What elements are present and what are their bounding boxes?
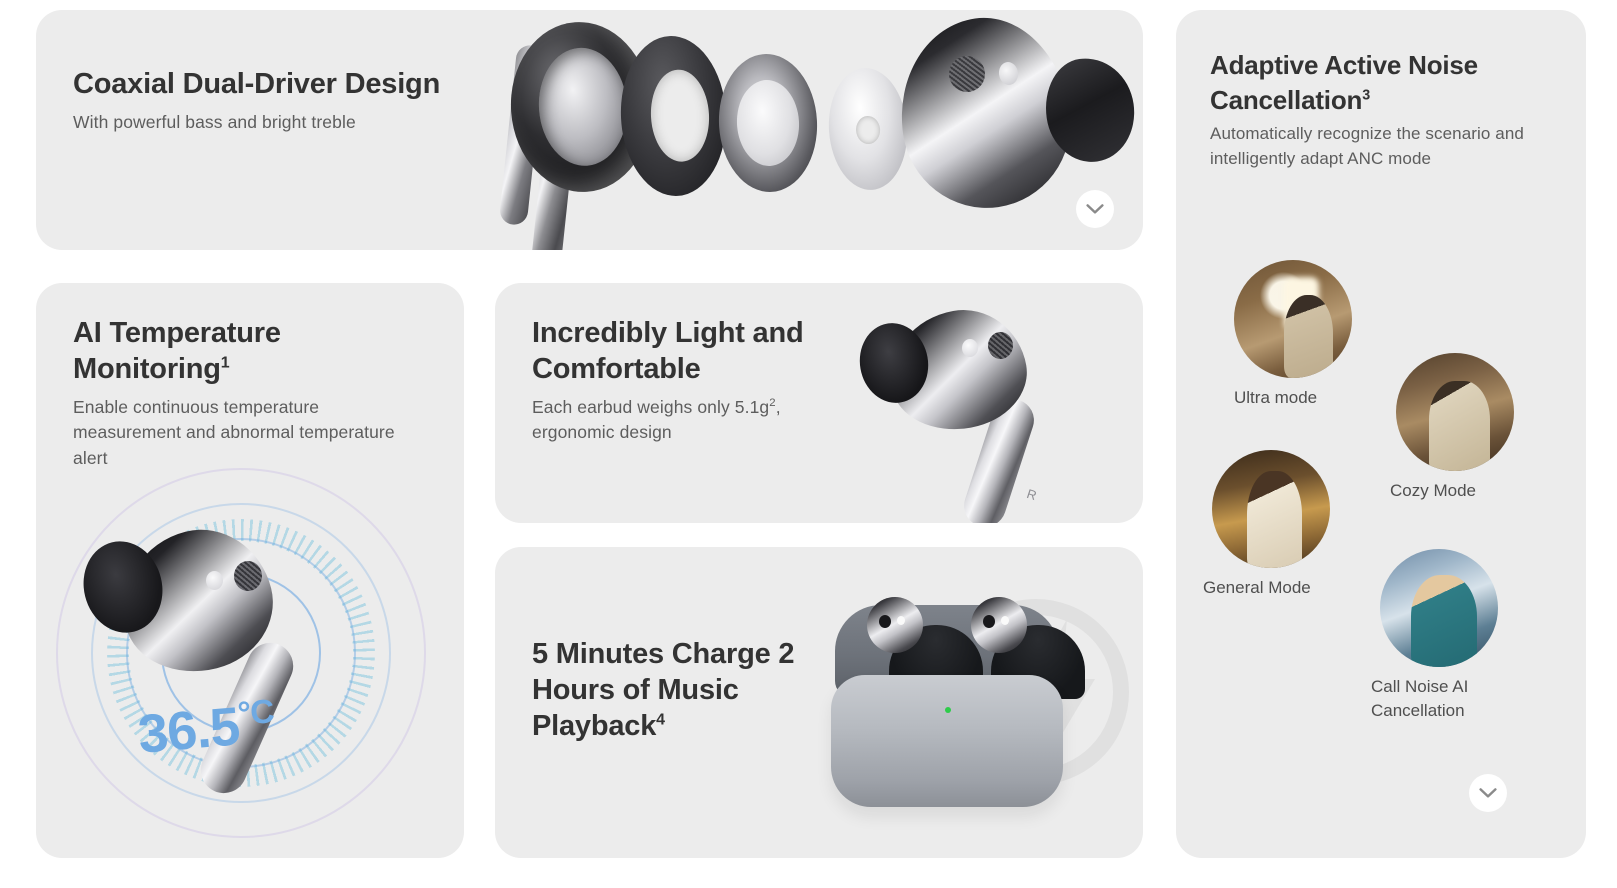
feature-card-adaptive-anc[interactable]: Adaptive Active Noise Cancellation3 Auto… [1176, 10, 1586, 858]
coaxial-card-title: Coaxial Dual-Driver Design [73, 67, 440, 103]
anc-card-subtitle: Automatically recognize the scenario and… [1210, 122, 1540, 172]
feature-card-fast-charge[interactable]: 5 Minutes Charge 2 Hours of Music Playba… [495, 547, 1143, 858]
anc-mode-general[interactable]: General Mode [1212, 450, 1330, 568]
earbud-mic-dot [983, 615, 995, 628]
charging-case-illustration [793, 557, 1143, 858]
temperature-sensing-illustration: 36.5°C [36, 463, 456, 858]
earbud-in-case-left [867, 597, 923, 653]
driver-frame-shape [617, 33, 730, 198]
charge-card-title-footnote: 4 [656, 711, 665, 728]
feature-card-ai-temperature-monitoring[interactable]: 36.5°C AI Temperature Monitoring1 Enable… [36, 283, 464, 858]
anc-card-title: Adaptive Active Noise Cancellation3 [1210, 48, 1540, 117]
earbud-in-case-right [971, 597, 1027, 653]
anc-mode-cozy-label: Cozy Mode [1390, 479, 1476, 503]
exploded-earbud-illustration [461, 10, 1143, 250]
anc-card-title-footnote: 3 [1362, 87, 1370, 103]
anc-mode-ultra-label: Ultra mode [1234, 386, 1317, 410]
anc-mode-ultra[interactable]: Ultra mode [1234, 260, 1352, 378]
temperature-card-text: AI Temperature Monitoring1 Enable contin… [73, 316, 413, 472]
single-earbud-illustration: R [870, 289, 1140, 523]
woofer-driver-shape [715, 52, 820, 195]
chevron-down-icon-anc[interactable] [1469, 774, 1507, 812]
temperature-card-title: AI Temperature Monitoring1 [73, 316, 413, 388]
temperature-number: 36.5 [136, 696, 242, 765]
anc-mode-call-label: Call Noise AI Cancellation [1371, 675, 1468, 723]
earbud-mic-mesh-shape [988, 332, 1013, 359]
feature-card-incredibly-light[interactable]: R Incredibly Light and Comfortable Each … [495, 283, 1143, 523]
woman-indoors-photo [1212, 450, 1330, 568]
man-at-cafe-photo [1396, 353, 1514, 471]
light-card-title: Incredibly Light and Comfortable [532, 316, 832, 388]
temperature-unit: °C [236, 693, 275, 733]
temperature-reading: 36.5°C [136, 692, 278, 766]
earbud-sensor-dot [1001, 616, 1009, 625]
earbud-right-marking: R [1025, 486, 1039, 503]
charge-card-title: 5 Minutes Charge 2 Hours of Music Playba… [532, 637, 822, 745]
coaxial-card-subtitle: With powerful bass and bright treble [73, 110, 440, 136]
man-on-airplane-photo [1234, 260, 1352, 378]
product-feature-grid: Coaxial Dual-Driver Design With powerful… [0, 0, 1617, 888]
coaxial-card-text: Coaxial Dual-Driver Design With powerful… [73, 67, 440, 136]
anc-mode-cozy[interactable]: Cozy Mode [1396, 353, 1514, 471]
feature-card-coaxial-dual-driver[interactable]: Coaxial Dual-Driver Design With powerful… [36, 10, 1143, 250]
temperature-card-subtitle: Enable continuous temperature measuremen… [73, 395, 413, 472]
tweeter-diaphragm-shape [825, 65, 911, 192]
charging-case-body-shape [831, 675, 1063, 807]
charge-card-text: 5 Minutes Charge 2 Hours of Music Playba… [532, 637, 822, 745]
light-card-text: Incredibly Light and Comfortable Each ea… [532, 316, 832, 446]
earbud-mic-dot [879, 615, 891, 628]
woman-on-phone-photo [1380, 549, 1498, 667]
earbud-sensor-dot-shape [206, 571, 223, 590]
earbud-sensor-dot [897, 616, 905, 625]
chevron-down-icon-coaxial[interactable] [1076, 190, 1114, 228]
earbud-sensor-dot-shape [962, 339, 978, 357]
temperature-card-title-text: AI Temperature Monitoring [73, 317, 281, 385]
light-card-subtitle: Each earbud weighs only 5.1g2, ergonomic… [532, 395, 832, 446]
anc-card-title-text: Adaptive Active Noise Cancellation [1210, 50, 1478, 115]
light-card-subtitle-part1: Each earbud weighs only 5.1g [532, 397, 769, 417]
anc-card-text: Adaptive Active Noise Cancellation3 Auto… [1210, 48, 1540, 172]
anc-mode-general-label: General Mode [1203, 576, 1311, 600]
earbud-mic-mesh-shape [234, 561, 262, 591]
temperature-card-title-footnote: 1 [221, 354, 230, 371]
charging-status-led [945, 707, 951, 713]
anc-mode-call-noise-cancellation[interactable]: Call Noise AI Cancellation [1380, 549, 1498, 667]
